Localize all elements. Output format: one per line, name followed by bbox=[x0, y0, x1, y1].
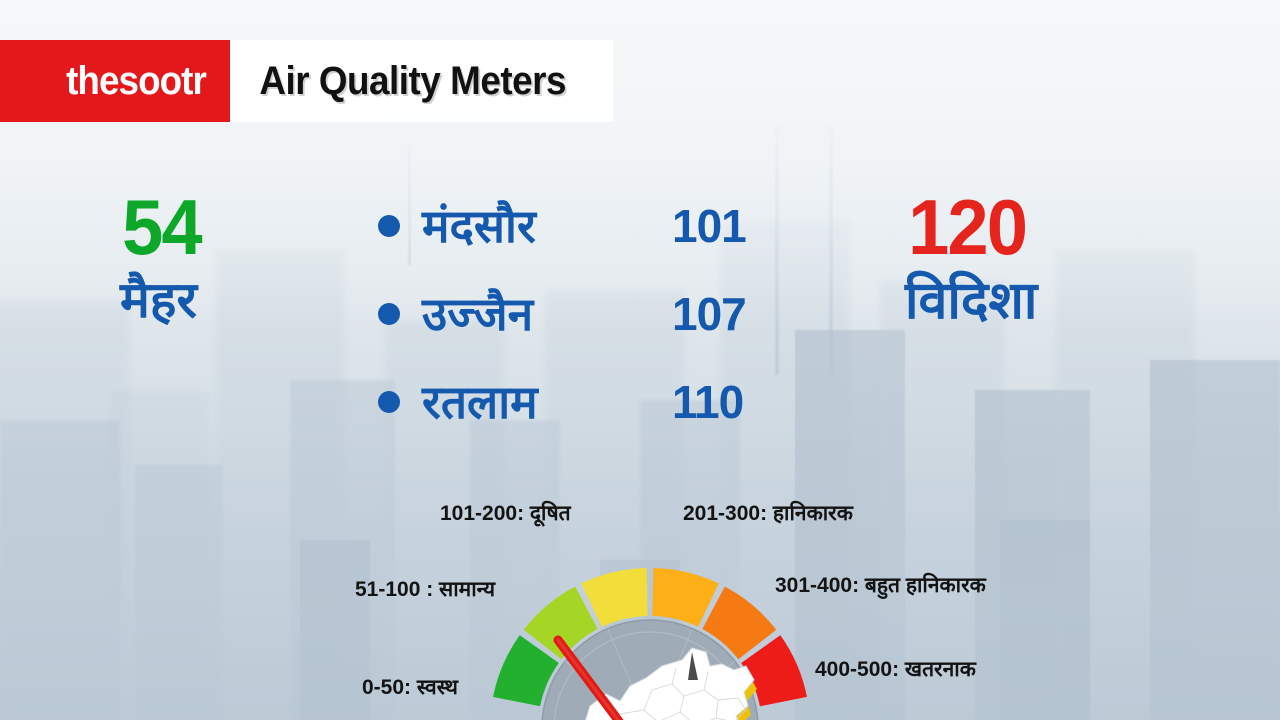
page-title: Air Quality Meters bbox=[259, 59, 566, 104]
list-item-city: मंदसौर bbox=[422, 203, 672, 249]
stat-card-left: 54 मैहर bbox=[120, 190, 360, 327]
list-item-city: उज्जैन bbox=[422, 291, 672, 337]
list-item-value: 101 bbox=[672, 203, 746, 249]
list-item: उज्जैन 107 bbox=[378, 270, 808, 358]
aqi-gauge-svg bbox=[430, 500, 870, 720]
stat-left-city: मैहर bbox=[120, 274, 360, 327]
stat-right-city: विदिशा bbox=[905, 274, 1205, 329]
aqi-gauge bbox=[430, 500, 870, 720]
list-item-value: 110 bbox=[672, 379, 743, 425]
list-item: रतलाम 110 bbox=[378, 358, 808, 446]
stat-card-right: 120 विदिशा bbox=[905, 190, 1205, 329]
page-title-container: Air Quality Meters bbox=[230, 40, 613, 122]
city-aqi-list: मंदसौर 101 उज्जैन 107 रतलाम 110 bbox=[378, 182, 808, 446]
brand-logo[interactable]: thesootr bbox=[0, 40, 230, 122]
list-item-city: रतलाम bbox=[422, 379, 672, 425]
infographic-canvas: thesootr Air Quality Meters 54 मैहर 120 … bbox=[0, 0, 1280, 720]
stat-left-value: 54 bbox=[122, 190, 201, 264]
header-bar: thesootr Air Quality Meters bbox=[0, 40, 613, 122]
brand-logo-text: thesootr bbox=[66, 59, 206, 104]
list-item: मंदसौर 101 bbox=[378, 182, 808, 270]
bullet-icon bbox=[378, 391, 400, 413]
bullet-icon bbox=[378, 303, 400, 325]
bullet-icon bbox=[378, 215, 400, 237]
list-item-value: 107 bbox=[672, 291, 746, 337]
stat-right-value: 120 bbox=[908, 190, 1026, 264]
